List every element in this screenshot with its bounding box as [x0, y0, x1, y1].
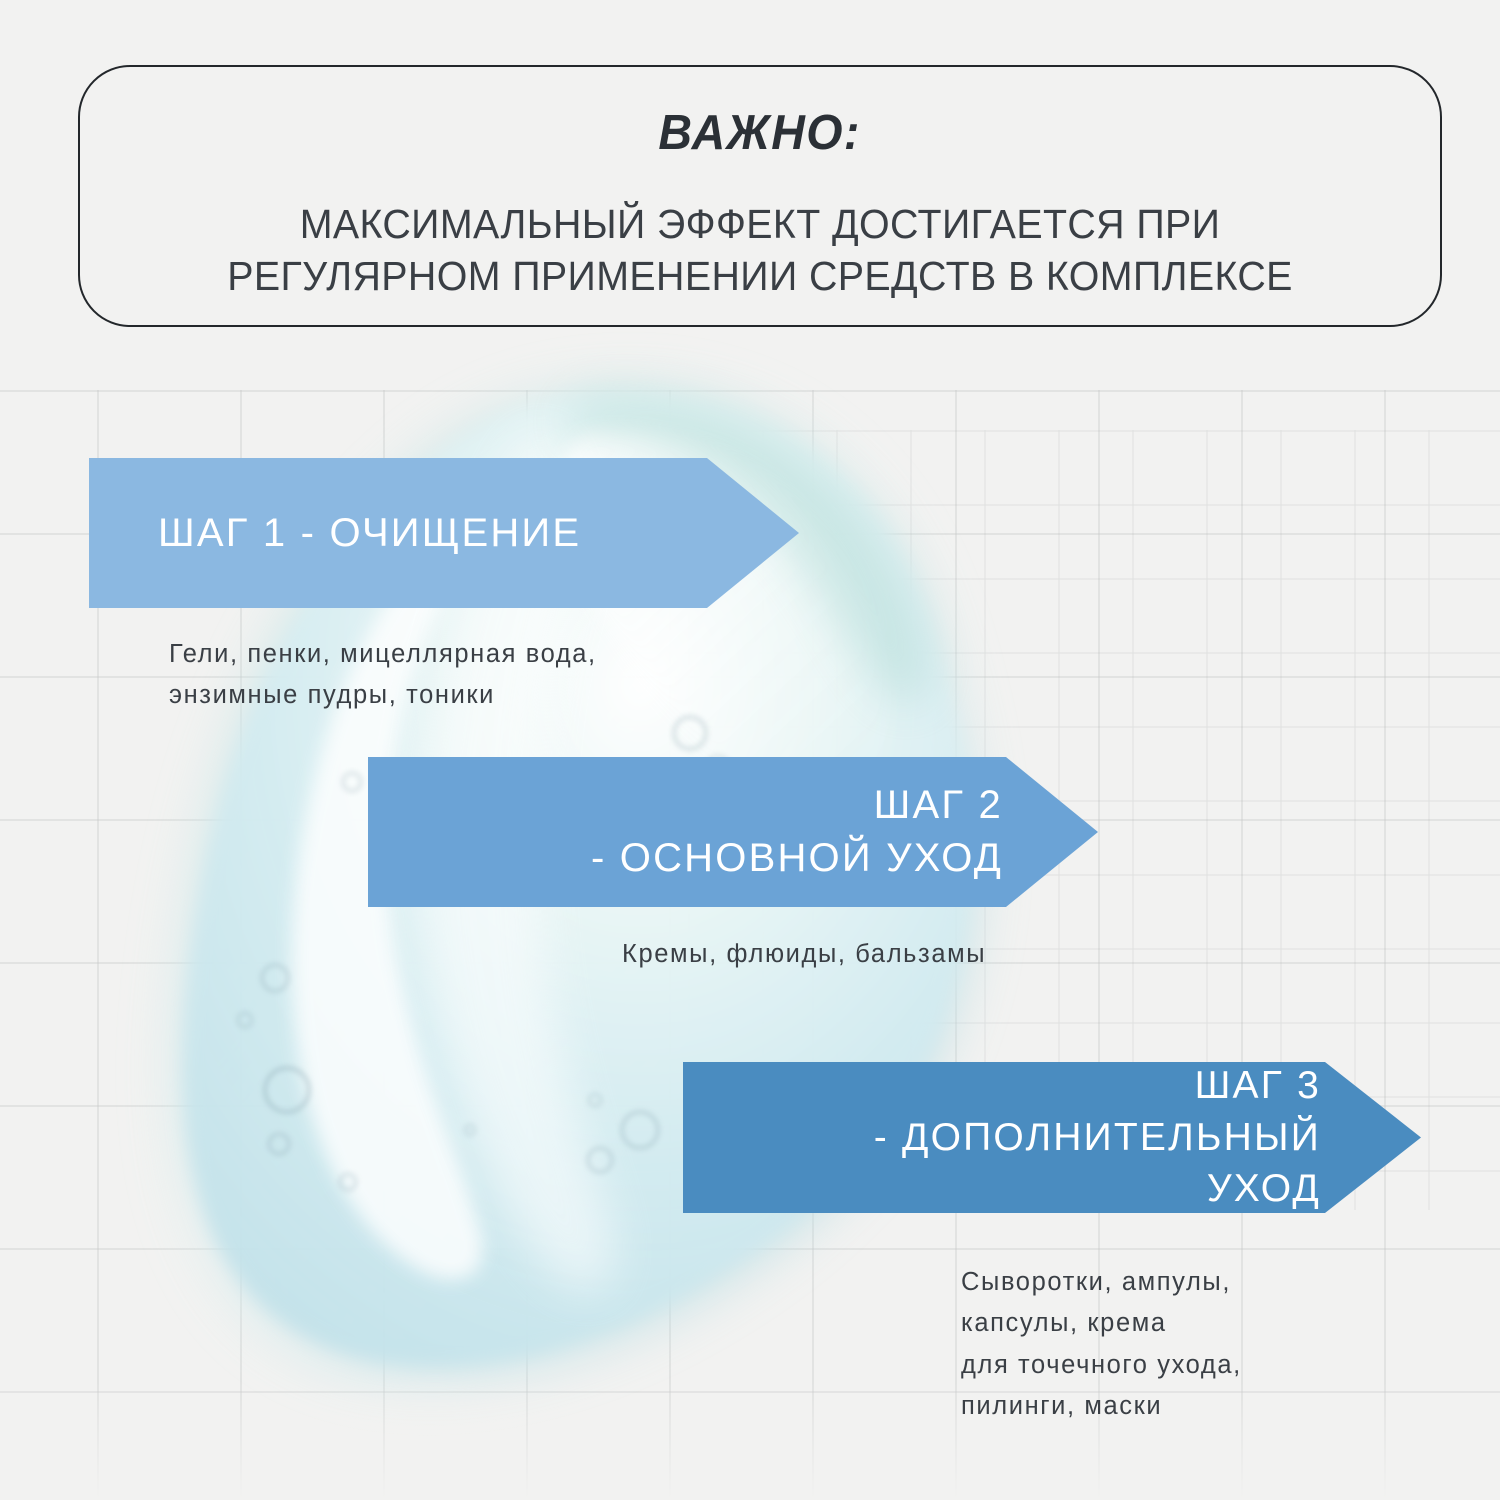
page-subtitle: МАКСИМАЛЬНЫЙ ЭФФЕКТ ДОСТИГАЕТСЯ ПРИ РЕГУ… [160, 198, 1360, 303]
step-2-label: ШАГ 2 - ОСНОВНОЙ УХОД [368, 779, 1098, 885]
step-3-arrow[interactable]: ШАГ 3 - ДОПОЛНИТЕЛЬНЫЙ УХОД [683, 1062, 1421, 1213]
poster-canvas: ВАЖНО: МАКСИМАЛЬНЫЙ ЭФФЕКТ ДОСТИГАЕТСЯ П… [0, 0, 1500, 1500]
step-2-description: Кремы, флюиды, бальзамы [622, 934, 986, 975]
step-1-label: ШАГ 1 - ОЧИЩЕНИЕ [89, 507, 799, 560]
step-3-description: Сыворотки, ампулы, капсулы, крема для то… [961, 1262, 1242, 1427]
step-1-description: Гели, пенки, мицеллярная вода, энзимные … [169, 634, 597, 717]
important-notice-card: ВАЖНО: МАКСИМАЛЬНЫЙ ЭФФЕКТ ДОСТИГАЕТСЯ П… [78, 65, 1442, 327]
step-1-arrow[interactable]: ШАГ 1 - ОЧИЩЕНИЕ [89, 458, 799, 608]
page-title: ВАЖНО: [659, 109, 862, 158]
step-3-label: ШАГ 3 - ДОПОЛНИТЕЛЬНЫЙ УХОД [683, 1060, 1421, 1214]
step-2-arrow[interactable]: ШАГ 2 - ОСНОВНОЙ УХОД [368, 757, 1098, 907]
